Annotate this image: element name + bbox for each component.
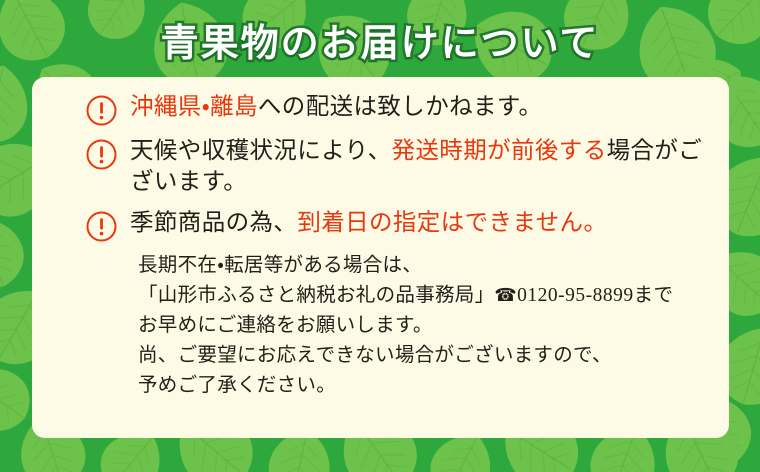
page-title: 青果物のお届けについて: [161, 12, 600, 67]
list-item: 天候や収穫状況により、発送時期が前後する場合がございます。: [52, 135, 709, 198]
notice-segment-emphasis: 沖縄県・離島: [130, 94, 258, 120]
exclamation-circle-icon: [86, 211, 117, 242]
exclamation-circle-icon: [86, 95, 117, 126]
footer-note-line-5: 予めご了承ください。: [138, 371, 709, 401]
banner-title-area: 青果物のお届けについて: [0, 0, 760, 78]
notice-text: 天候や収穫状況により、発送時期が前後する場合がございます。: [130, 135, 709, 198]
notice-text: 季節商品の為、到着日の指定はできません。: [130, 207, 709, 239]
notice-card: 沖縄県・離島への配送は致しかねます。 天候や収穫状況により、発送時期が前後する場…: [32, 77, 729, 438]
notice-text: 沖縄県・離島への配送は致しかねます。: [130, 91, 709, 123]
footer-note-line-3: お早めにご連絡をお願いします。: [138, 311, 709, 341]
notice-segment: 季節商品の為、: [130, 210, 297, 236]
telephone-number: 0120-95-8899: [517, 285, 634, 306]
notice-segment: 天候や収穫状況により、: [130, 138, 392, 164]
office-name: 「山形市ふるさと納税お礼の品事務局」: [138, 285, 494, 306]
footer-note-line-2: 「山形市ふるさと納税お礼の品事務局」☎0120-95-8899まで: [138, 281, 709, 311]
list-item: 沖縄県・離島への配送は致しかねます。: [52, 91, 709, 126]
telephone-icon: ☎: [494, 285, 517, 306]
list-item: 季節商品の為、到着日の指定はできません。: [52, 207, 709, 242]
notice-segment: への配送は致しかねます。: [258, 94, 542, 120]
footer-note: 長期不在・転居等がある場合は、 「山形市ふるさと納税お礼の品事務局」☎0120-…: [138, 251, 709, 401]
footer-note-line-2-suffix: まで: [634, 285, 674, 306]
notice-list: 沖縄県・離島への配送は致しかねます。 天候や収穫状況により、発送時期が前後する場…: [52, 91, 709, 242]
exclamation-circle-icon: [86, 139, 117, 170]
delivery-notice-banner: 青果物のお届けについて 沖縄県・離島への配送は致しかねます。: [0, 0, 760, 472]
notice-segment-emphasis: 発送時期が前後する: [392, 138, 607, 164]
notice-segment-emphasis: 到着日の指定はできません。: [297, 210, 607, 236]
footer-note-line-1: 長期不在・転居等がある場合は、: [138, 251, 709, 281]
footer-note-line-4: 尚、ご要望にお応えできない場合がございますので、: [138, 341, 709, 371]
